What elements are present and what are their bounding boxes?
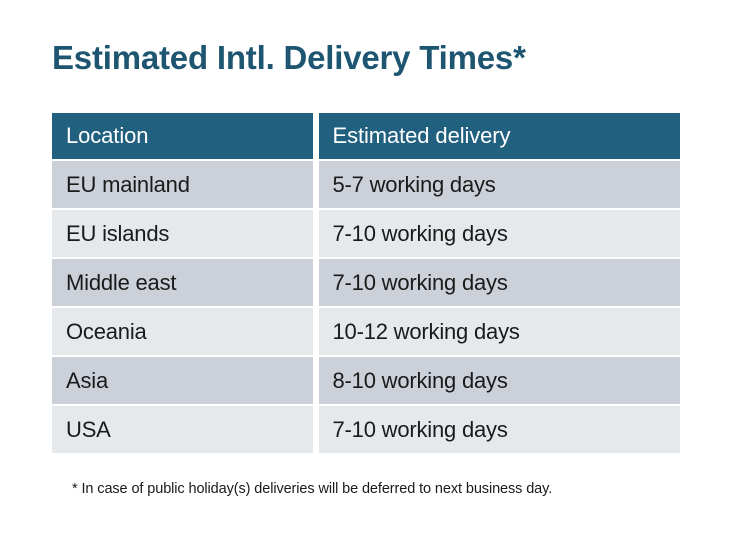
table-row: EU islands 7-10 working days (52, 210, 680, 257)
table-row: USA 7-10 working days (52, 406, 680, 453)
table-row: EU mainland 5-7 working days (52, 161, 680, 208)
footnote: * In case of public holiday(s) deliverie… (72, 481, 552, 497)
table-row: Middle east 7-10 working days (52, 259, 680, 306)
table-body: EU mainland 5-7 working days EU islands … (52, 161, 680, 453)
table-header-row: Location Estimated delivery (52, 113, 680, 159)
cell-estimated: 8-10 working days (319, 357, 681, 404)
cell-estimated: 7-10 working days (319, 406, 681, 453)
cell-estimated: 10-12 working days (319, 308, 681, 355)
cell-location: Asia (52, 357, 313, 404)
table-row: Asia 8-10 working days (52, 357, 680, 404)
column-header-location: Location (52, 113, 313, 159)
cell-estimated: 7-10 working days (319, 259, 681, 306)
cell-estimated: 5-7 working days (319, 161, 681, 208)
table-row: Oceania 10-12 working days (52, 308, 680, 355)
cell-location: EU mainland (52, 161, 313, 208)
delivery-times-panel: Estimated Intl. Delivery Times* Location… (0, 0, 745, 536)
column-header-estimated-delivery: Estimated delivery (319, 113, 681, 159)
page-title: Estimated Intl. Delivery Times* (52, 38, 526, 78)
cell-location: Middle east (52, 259, 313, 306)
delivery-times-table: Location Estimated delivery EU mainland … (46, 111, 686, 455)
cell-estimated: 7-10 working days (319, 210, 681, 257)
cell-location: USA (52, 406, 313, 453)
cell-location: Oceania (52, 308, 313, 355)
table-header: Location Estimated delivery (52, 113, 680, 159)
cell-location: EU islands (52, 210, 313, 257)
